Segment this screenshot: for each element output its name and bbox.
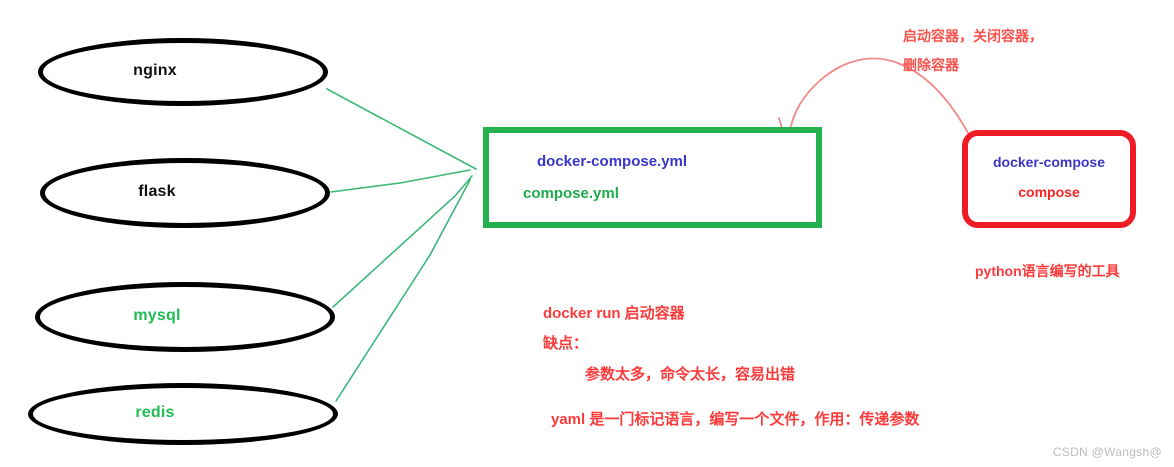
- diagram-canvas: nginx flask mysql redis docker-compose.y…: [0, 0, 1174, 467]
- compose-file-secondary-label: compose.yml: [523, 185, 619, 202]
- service-node-redis[interactable]: redis: [28, 383, 338, 445]
- connector-mysql: [333, 176, 472, 307]
- compose-tool-box[interactable]: docker-compose compose: [962, 130, 1136, 228]
- connector-redis: [336, 180, 470, 401]
- annotation-yaml-note: yaml 是一门标记语言，编写一个文件，作用：传递参数: [551, 408, 919, 429]
- annotation-docker-run: docker run 启动容器: [543, 302, 685, 323]
- service-node-label: redis: [135, 404, 174, 422]
- annotation-container-actions-line2: 删除容器: [903, 55, 959, 75]
- service-node-flask[interactable]: flask: [40, 158, 330, 228]
- annotation-python-tool: python语言编写的工具: [975, 261, 1120, 281]
- compose-file-primary-label: docker-compose.yml: [537, 153, 687, 170]
- service-node-label: mysql: [133, 307, 180, 325]
- compose-tool-primary-label: docker-compose: [968, 154, 1130, 170]
- connector-flask: [331, 170, 470, 192]
- service-node-label: nginx: [133, 62, 177, 80]
- annotation-drawback-detail: 参数太多，命令太长，容易出错: [585, 363, 795, 384]
- annotation-drawback-title: 缺点：: [543, 332, 588, 353]
- annotation-container-actions-line1: 启动容器，关闭容器，: [903, 26, 1043, 46]
- connector-nginx: [327, 89, 476, 169]
- compose-tool-secondary-label: compose: [968, 184, 1130, 200]
- service-node-label: flask: [138, 183, 175, 201]
- compose-file-box[interactable]: docker-compose.yml compose.yml: [483, 127, 822, 228]
- csdn-watermark: CSDN @Wangsh@: [1053, 445, 1162, 459]
- service-node-mysql[interactable]: mysql: [35, 282, 335, 352]
- service-node-nginx[interactable]: nginx: [38, 38, 328, 106]
